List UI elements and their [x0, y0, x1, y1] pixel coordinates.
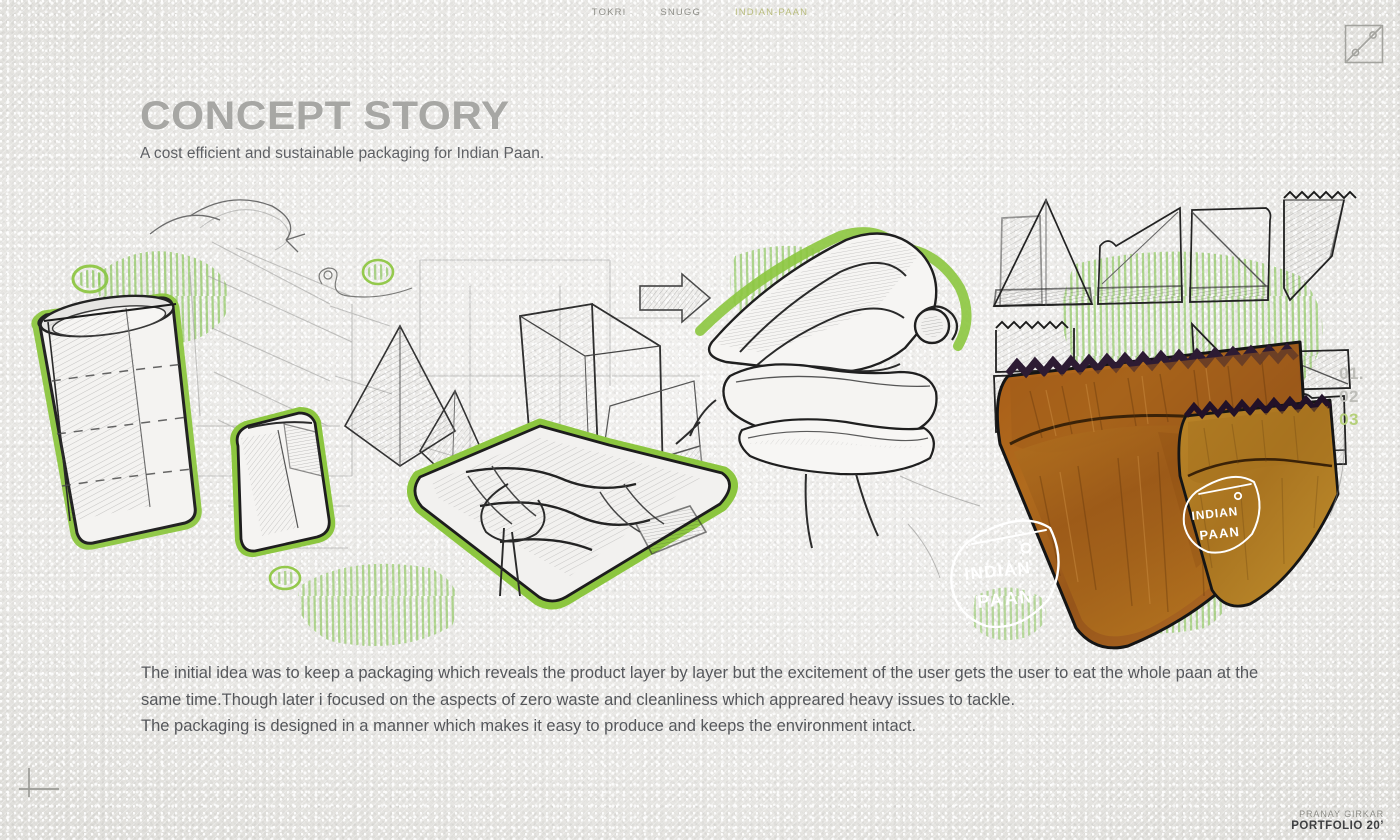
slide-stage: TOKRI SNUGG INDIAN-PAAN CONCEPT STORY A …	[0, 0, 1400, 840]
sketch-spiral-arrow	[150, 200, 305, 252]
nav-item-indian-paan[interactable]: INDIAN-PAAN	[735, 7, 808, 18]
top-navigation: TOKRI SNUGG INDIAN-PAAN	[0, 0, 1400, 24]
heading-block: CONCEPT STORY A cost efficient and susta…	[140, 96, 544, 163]
sketch-curl-hook	[319, 268, 412, 297]
page-number-01[interactable]: 01.	[1339, 364, 1364, 384]
body-paragraph-2: The packaging is designed in a manner wh…	[141, 713, 1301, 740]
crop-registration-mark	[18, 767, 62, 818]
brand-logo-line-1-large: INDIAN	[963, 558, 1032, 584]
footer-author: PRANAY GIRKAR	[1291, 809, 1384, 819]
page-number-list: 01. 02 03	[1339, 364, 1364, 430]
sketch-arrow-block	[640, 274, 710, 322]
footer-portfolio: PORTFOLIO 20’	[1291, 820, 1384, 832]
body-copy: The initial idea was to keep a packaging…	[141, 660, 1301, 740]
sketch-folded-cup	[235, 412, 330, 552]
page-subtitle: A cost efficient and sustainable packagi…	[140, 145, 544, 163]
body-paragraph-1: The initial idea was to keep a packaging…	[141, 660, 1301, 713]
concept-sketch-artwork: INDIAN PAAN INDIAN PAAN	[0, 176, 1400, 656]
footer-signature: PRANAY GIRKAR PORTFOLIO 20’	[1291, 809, 1384, 832]
sketch-cylinder-tube	[37, 289, 196, 544]
brand-logo-icon[interactable]	[1341, 21, 1387, 72]
nav-item-snugg[interactable]: SNUGG	[660, 7, 701, 18]
page-number-02[interactable]: 02	[1339, 387, 1364, 407]
page-title: CONCEPT STORY	[140, 96, 568, 136]
nav-item-tokri[interactable]: TOKRI	[592, 7, 627, 18]
page-number-03[interactable]: 03	[1339, 410, 1364, 430]
